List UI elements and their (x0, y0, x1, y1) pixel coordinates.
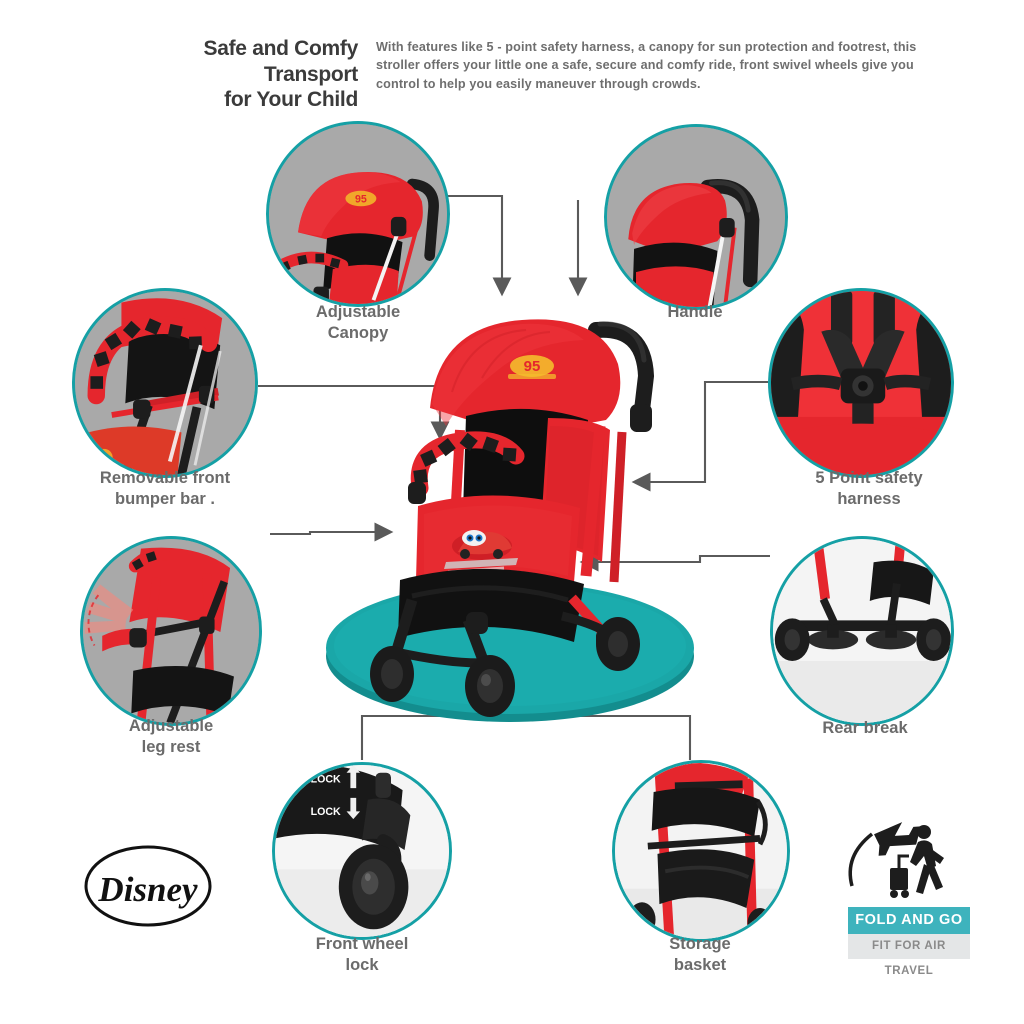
disney-wordmark-text: Disney (97, 870, 198, 909)
fit-for-air-travel-label: FIT FOR AIR TRAVEL (848, 934, 970, 959)
caption-line2: leg rest (66, 737, 276, 758)
unlock-label-text: UNLOCK (295, 773, 341, 785)
caption-line1: Storage (600, 934, 800, 955)
feature-image-front-wheel-lock: UNLOCK LOCK (272, 762, 452, 940)
svg-text:95: 95 (355, 193, 367, 205)
caption-line1: Removable front (58, 468, 272, 489)
feature-image-five-point-harness (768, 288, 954, 478)
caption-rear-break: Rear break (770, 718, 960, 739)
fold-and-go-badge: FOLD AND GO FIT FOR AIR TRAVEL (838, 818, 970, 958)
fold-and-go-label: FOLD AND GO (848, 907, 970, 934)
caption-front-wheel-lock: Front wheel lock (262, 934, 462, 977)
page-title: Safe and Comfy Transport for Your Child (108, 36, 358, 113)
lock-label-text: LOCK (311, 806, 341, 818)
feature-image-adjustable-canopy: 95 (266, 121, 450, 307)
caption-adjustable-leg-rest: Adjustable leg rest (66, 716, 276, 759)
caption-line2: lock (262, 955, 462, 976)
page-title-line2: for Your Child (108, 87, 358, 113)
caption-line1: Adjustable (66, 716, 276, 737)
feature-image-adjustable-leg-rest (80, 536, 262, 726)
page-title-line1: Safe and Comfy Transport (108, 36, 358, 87)
intro-paragraph: With features like 5 - point safety harn… (376, 38, 938, 93)
feature-image-rear-break (770, 536, 954, 726)
feature-image-removable-bumper-bar (72, 288, 258, 478)
infographic-canvas: Safe and Comfy Transport for Your Child … (0, 0, 1024, 1024)
caption-line1: Front wheel (262, 934, 462, 955)
caption-storage-basket: Storage basket (600, 934, 800, 977)
caption-line1: 5 Point safety (762, 468, 976, 489)
feature-image-handle (604, 124, 788, 310)
caption-line2: basket (600, 955, 800, 976)
caption-removable-bumper-bar: Removable front bumper bar . (58, 468, 272, 511)
air-travel-icon (838, 818, 970, 900)
disney-logo: Disney (78, 843, 218, 929)
caption-five-point-harness: 5 Point safety harness (762, 468, 976, 511)
cars-number-text: 95 (524, 358, 541, 375)
caption-line2: harness (762, 489, 976, 510)
main-product-image: 95 (300, 300, 730, 720)
caption-line1: Rear break (770, 718, 960, 739)
feature-image-storage-basket (612, 760, 790, 942)
caption-line2: bumper bar . (58, 489, 272, 510)
